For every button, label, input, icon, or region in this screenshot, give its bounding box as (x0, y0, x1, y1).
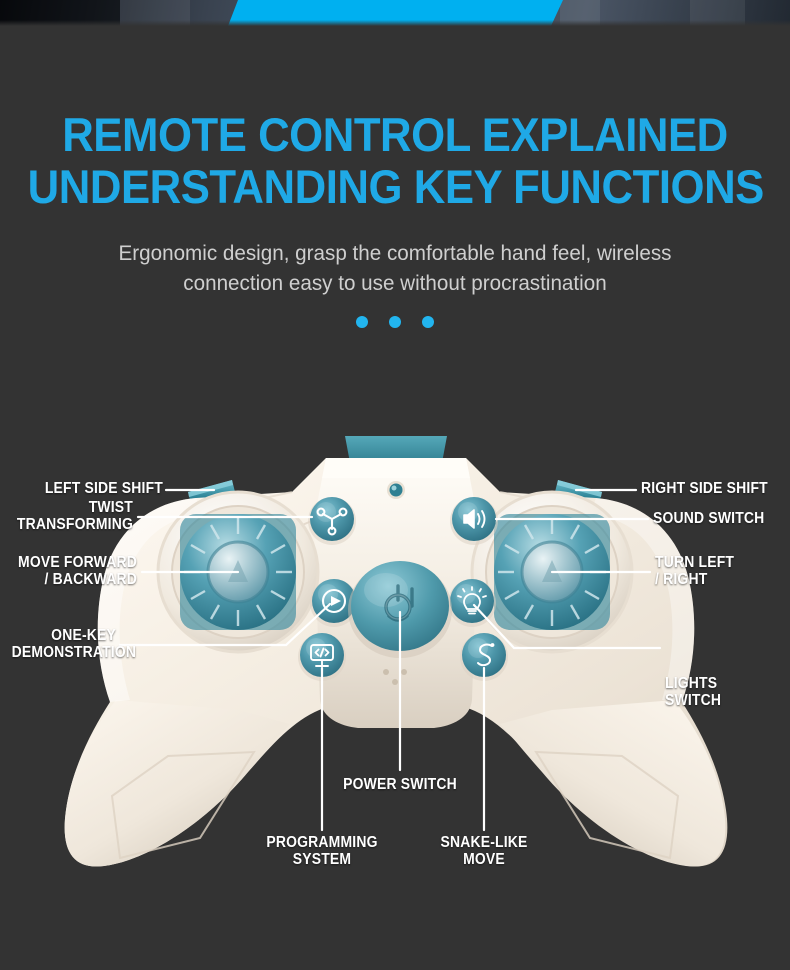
label-sound-switch: SOUND SWITCH (653, 510, 764, 527)
label-right-side-shift: RIGHT SIDE SHIFT (641, 480, 768, 497)
label-twist-line-1: TWIST (13, 499, 133, 516)
product-diagram: LEFT SIDE SHIFT TWIST TRANSFORMING MOVE … (0, 400, 790, 970)
label-snake-line-1: SNAKE-LIKE (414, 834, 554, 851)
label-move-forward-line-2: / BACKWARD (14, 571, 137, 588)
label-programming-line-2: SYSTEM (246, 851, 397, 868)
label-one-key-line-2: DEMONSTRATION (12, 644, 116, 661)
label-programming-line-1: PROGRAMMING (246, 834, 397, 851)
label-lights-switch-line-1: LIGHTS (665, 675, 717, 692)
subtitle-line-2: connection easy to use without procrasti… (16, 268, 774, 298)
label-twist-line-2: TRANSFORMING (13, 516, 133, 533)
label-one-key-line-1: ONE-KEY (12, 627, 116, 644)
label-power-switch: POWER SWITCH (326, 776, 474, 793)
previous-banner-strip (0, 0, 790, 26)
twist-transform-button[interactable] (308, 497, 356, 545)
separator-dot-1 (356, 316, 368, 328)
label-turn-left-line-1: TURN LEFT (655, 554, 734, 571)
separator-dot-2 (389, 316, 401, 328)
hero-section: REMOTE CONTROL EXPLAINED UNDERSTANDING K… (0, 26, 790, 328)
label-left-side-shift: LEFT SIDE SHIFT (16, 480, 163, 497)
page-title-line-1: REMOTE CONTROL EXPLAINED (28, 110, 763, 160)
dot-separator (0, 316, 790, 328)
status-led (387, 481, 405, 499)
label-snake-line-2: MOVE (414, 851, 554, 868)
page-title-line-2: UNDERSTANDING KEY FUNCTIONS (28, 162, 763, 212)
label-turn-left-line-2: / RIGHT (655, 571, 707, 588)
subtitle-line-1: Ergonomic design, grasp the comfortable … (16, 238, 774, 268)
label-lights-switch-line-2: SWITCH (665, 692, 721, 709)
label-move-forward-line-1: MOVE FORWARD (14, 554, 137, 571)
sound-switch-button[interactable] (450, 497, 498, 545)
separator-dot-3 (422, 316, 434, 328)
